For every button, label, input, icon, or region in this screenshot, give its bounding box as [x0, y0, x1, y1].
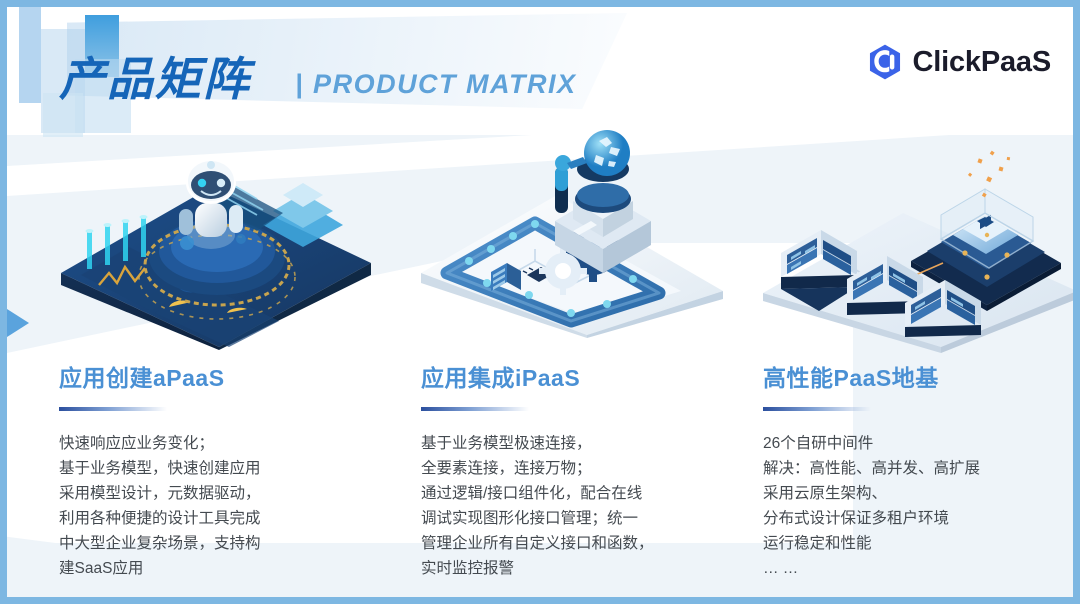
body-line: 基于业务模型，快速创建应用: [59, 456, 379, 481]
column-paas-foundation: 高性能PaaS地基 26个自研中间件 解决：高性能、高并发、高扩展 采用云原生架…: [763, 359, 1080, 581]
body-line: 中大型企业复杂场景，支持构: [59, 531, 379, 556]
page-subtitle: | PRODUCT MATRIX: [295, 69, 577, 100]
body-line: 全要素连接，连接万物；: [421, 456, 741, 481]
column-title: 应用创建aPaaS: [59, 359, 379, 393]
column-divider: [421, 407, 529, 411]
body-line: 采用云原生架构、: [763, 481, 1080, 506]
isometric-light-platform-circuit-gears-globe-illustration: [407, 123, 737, 338]
body-line: 基于业务模型极速连接，: [421, 431, 741, 456]
slide-root: 产品矩阵 | PRODUCT MATRIX ClickPaaS: [0, 0, 1080, 604]
body-line: 利用各种便捷的设计工具完成: [59, 506, 379, 531]
body-line: 建SaaS应用: [59, 556, 379, 581]
column-ipaas: 应用集成iPaaS 基于业务模型极速连接， 全要素连接，连接万物； 通过逻辑/接…: [421, 359, 741, 581]
body-line: 运行稳定和性能: [763, 531, 1080, 556]
body-line: 解决：高性能、高并发、高扩展: [763, 456, 1080, 481]
body-line: … …: [763, 556, 1080, 581]
body-line: 分布式设计保证多租户环境: [763, 506, 1080, 531]
column-body: 基于业务模型极速连接， 全要素连接，连接万物； 通过逻辑/接口组件化，配合在线 …: [421, 431, 741, 581]
brand-logo: ClickPaaS: [866, 43, 1051, 81]
hexagon-click-logo-icon: [866, 43, 904, 81]
slide-header: 产品矩阵 | PRODUCT MATRIX ClickPaaS: [7, 7, 1073, 127]
illustration-row: [7, 119, 1073, 349]
body-line: 快速响应应业务变化；: [59, 431, 379, 456]
column-body: 26个自研中间件 解决：高性能、高并发、高扩展 采用云原生架构、 分布式设计保证…: [763, 431, 1080, 581]
body-line: 通过逻辑/接口组件化，配合在线: [421, 481, 741, 506]
body-line: 调试实现图形化接口管理；统一: [421, 506, 741, 531]
body-line: 实时监控报警: [421, 556, 741, 581]
column-divider: [59, 407, 167, 411]
column-apaas: 应用创建aPaaS 快速响应应业务变化； 基于业务模型，快速创建应用 采用模型设…: [59, 359, 379, 581]
header-decorative-rect-1: [19, 7, 41, 103]
column-divider: [763, 407, 871, 411]
body-line: 采用模型设计，元数据驱动，: [59, 481, 379, 506]
body-line: 管理企业所有自定义接口和函数，: [421, 531, 741, 556]
page-title: 产品矩阵: [59, 43, 251, 109]
isometric-server-racks-chip-pyramid-illustration: [755, 141, 1080, 356]
brand-logo-text: ClickPaaS: [913, 46, 1051, 79]
column-title: 高性能PaaS地基: [763, 359, 1080, 393]
body-line: 26个自研中间件: [763, 431, 1080, 456]
isometric-dark-platform-robot-dashboard-illustration: [51, 135, 381, 350]
column-body: 快速响应应业务变化； 基于业务模型，快速创建应用 采用模型设计，元数据驱动， 利…: [59, 431, 379, 581]
column-title: 应用集成iPaaS: [421, 359, 741, 393]
